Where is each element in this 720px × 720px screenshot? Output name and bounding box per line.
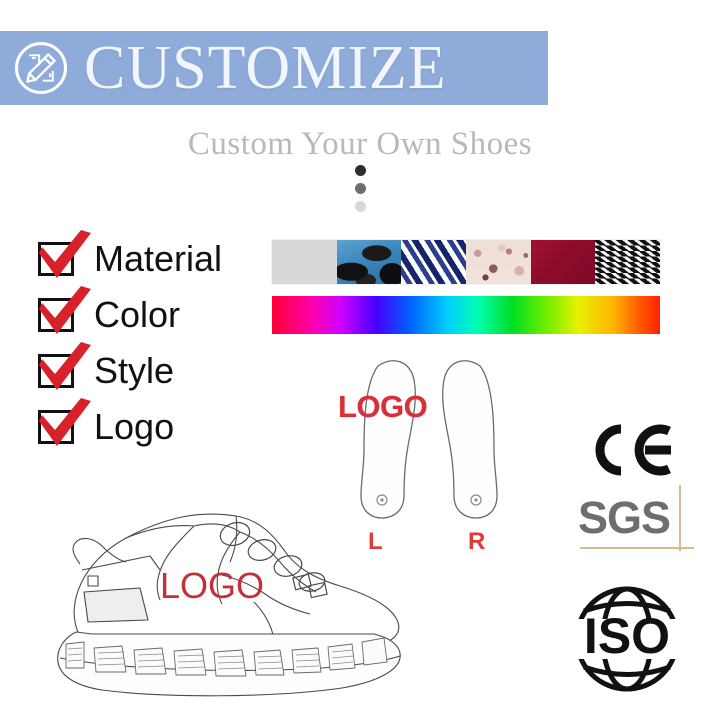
sgs-accent-line-vertical xyxy=(679,485,681,551)
subtitle: Custom Your Own Shoes xyxy=(0,126,720,163)
pencil-ruler-circle-icon xyxy=(12,39,70,97)
shoe-mesh-panel xyxy=(84,588,148,622)
customize-shoes-poster: CUSTOMIZE Custom Your Own Shoes Material… xyxy=(0,0,720,720)
swatch-maroon[interactable] xyxy=(531,240,596,284)
sgs-accent-line-horizontal xyxy=(580,547,694,549)
iso-label: ISO xyxy=(584,608,670,664)
ce-mark-icon xyxy=(583,423,679,477)
checklist-item-material[interactable]: Material xyxy=(38,236,222,282)
checklist-item-logo[interactable]: Logo xyxy=(38,404,222,450)
checklist-label: Material xyxy=(94,241,222,277)
checkbox-color[interactable] xyxy=(38,298,74,332)
checkbox-style[interactable] xyxy=(38,354,74,388)
swatch-floral[interactable] xyxy=(466,240,531,284)
check-icon xyxy=(33,341,95,395)
iso-mark-icon: ISO xyxy=(553,580,701,698)
checkbox-material[interactable] xyxy=(38,242,74,276)
dot-dark-icon xyxy=(355,165,366,176)
swatch-blue-camo[interactable] xyxy=(337,240,402,284)
checklist-label: Style xyxy=(94,353,174,389)
dot-light-icon xyxy=(355,201,366,212)
swatch-chevron[interactable] xyxy=(595,240,660,284)
shoe-side-tab xyxy=(88,576,98,586)
checkbox-logo[interactable] xyxy=(38,410,74,444)
insole-right-label: R xyxy=(468,528,485,556)
checklist-label: Color xyxy=(94,297,180,333)
swatch-plain-gray[interactable] xyxy=(272,240,337,284)
material-swatch-strip xyxy=(272,240,660,284)
customization-checklist: Material Color Style xyxy=(38,236,222,450)
rainbow-gradient-bar[interactable] xyxy=(272,296,660,334)
sgs-mark: SGS xyxy=(578,495,698,557)
checklist-item-color[interactable]: Color xyxy=(38,292,222,338)
insole-right xyxy=(443,361,497,518)
insole-right-dot-icon xyxy=(474,498,477,501)
check-icon xyxy=(33,285,95,339)
insole-logo-text: LOGO xyxy=(338,391,427,422)
check-icon xyxy=(33,397,95,451)
check-icon xyxy=(33,229,95,283)
checklist-label: Logo xyxy=(94,409,174,445)
header-banner: CUSTOMIZE xyxy=(0,31,548,105)
shoe-logo-text: LOGO xyxy=(160,568,264,604)
dot-separator xyxy=(0,165,720,212)
swatch-blue-stripe[interactable] xyxy=(401,240,466,284)
checklist-item-style[interactable]: Style xyxy=(38,348,222,394)
banner-title: CUSTOMIZE xyxy=(84,37,447,99)
dot-mid-icon xyxy=(355,183,366,194)
